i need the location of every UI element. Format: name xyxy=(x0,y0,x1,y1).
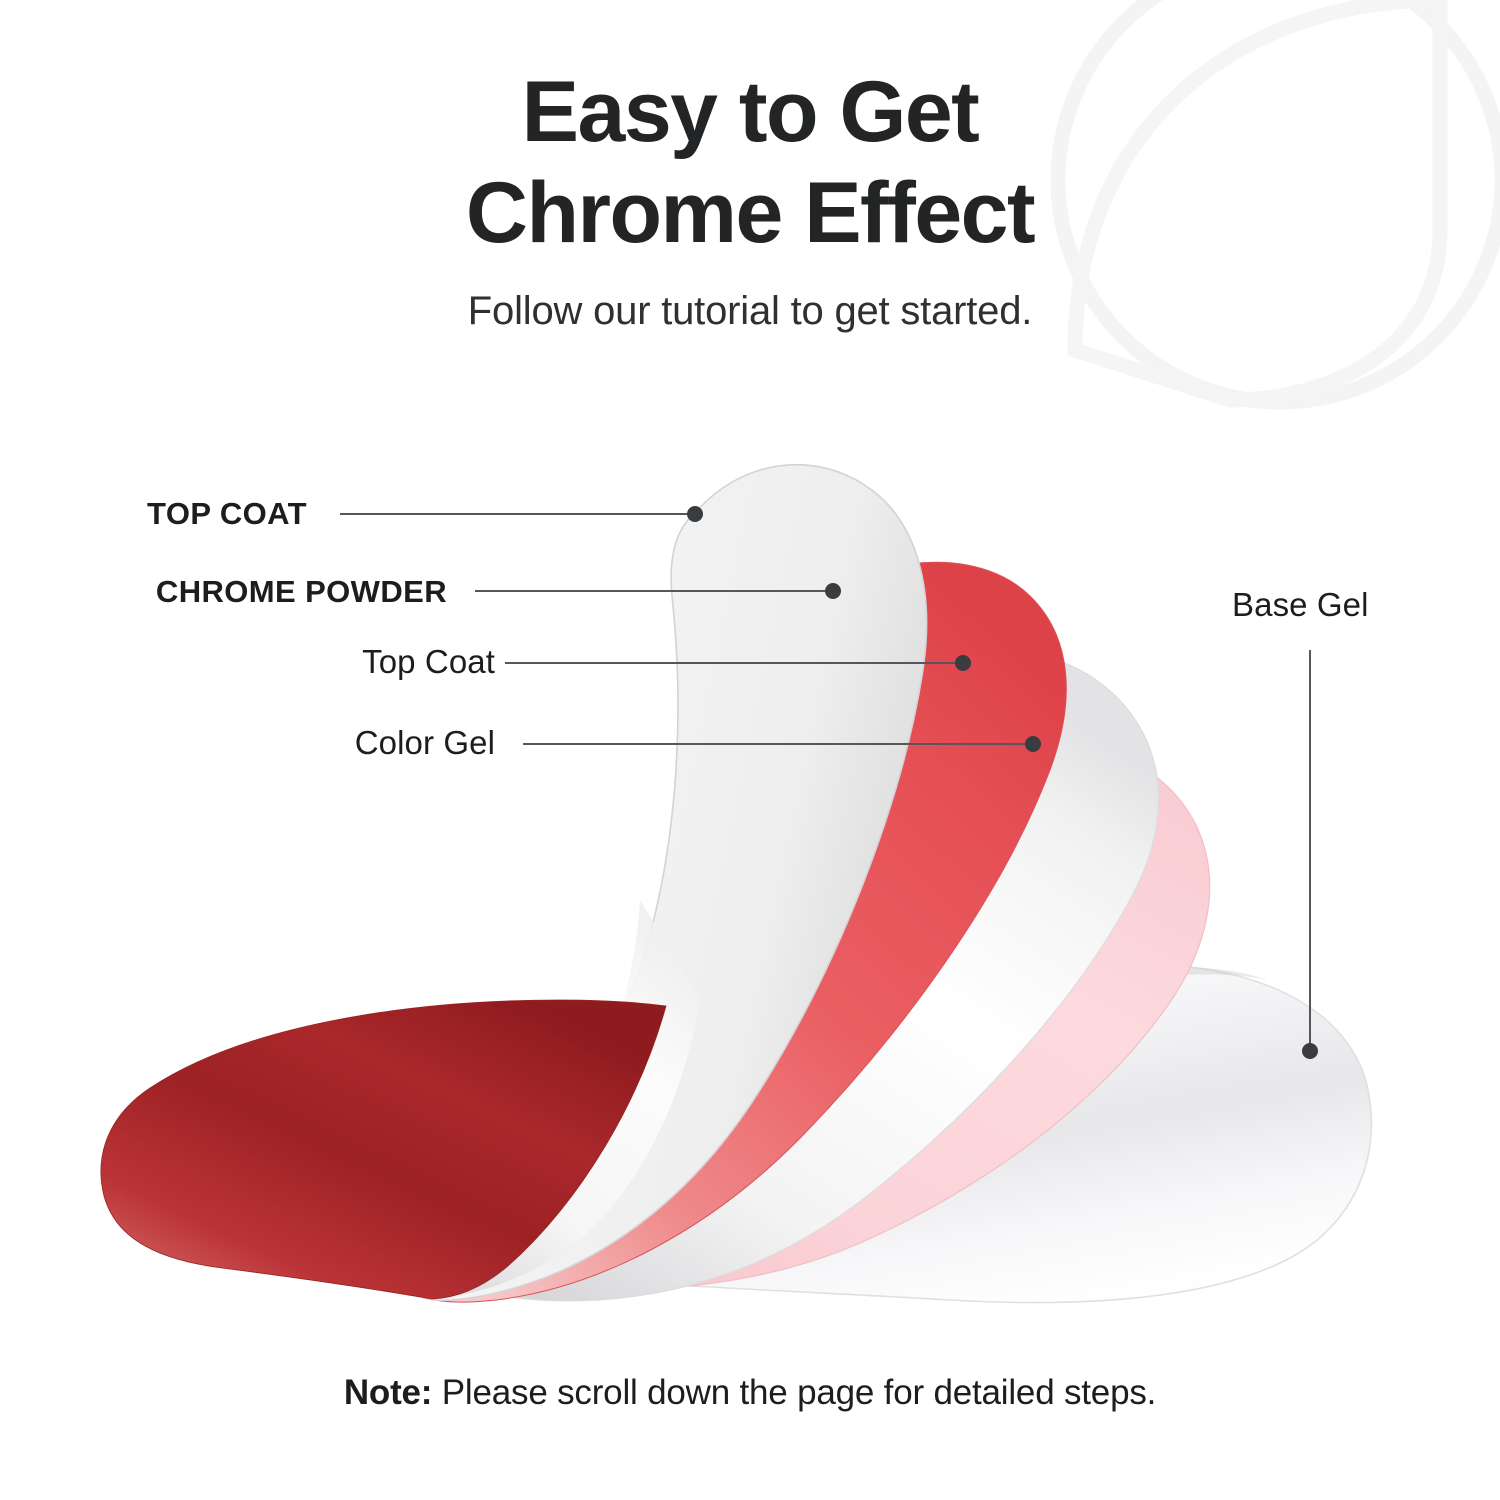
leader-dots xyxy=(687,506,1318,1059)
header: Easy to Get Chrome Effect Follow our tut… xyxy=(0,62,1500,334)
leader-dot-base-gel xyxy=(1302,1043,1318,1059)
footer-note-text: Please scroll down the page for detailed… xyxy=(432,1373,1156,1412)
leader-dot-top-coat-2 xyxy=(955,655,971,671)
diagram-label-top-coat: TOP COAT xyxy=(147,498,307,529)
diagram-label-chrome-powder: CHROME POWDER xyxy=(156,576,447,607)
layer-inner-top-coat xyxy=(450,651,1159,1301)
footer-note-label: Note: xyxy=(344,1373,432,1412)
leader-lines xyxy=(340,514,1310,1049)
diagram-label-top-coat-inner: Top Coat xyxy=(362,645,495,678)
page-title-line-1: Easy to Get xyxy=(0,62,1500,163)
leader-dot-chrome-powder xyxy=(825,583,841,599)
layer-outer-top-coat xyxy=(424,465,927,1300)
layer-base-gel xyxy=(500,964,1371,1303)
leader-dot-color-gel xyxy=(1025,736,1041,752)
footer-note: Note: Please scroll down the page for de… xyxy=(0,1373,1500,1413)
layer-color-gel xyxy=(418,741,1210,1290)
leader-dot-top-coat xyxy=(687,506,703,522)
diagram-label-color-gel: Color Gel xyxy=(355,726,495,759)
layer-chrome-powder xyxy=(424,562,1066,1302)
layer-chrome-nail xyxy=(101,1000,666,1299)
diagram-label-base-gel: Base Gel xyxy=(1232,588,1369,621)
page-title-line-2: Chrome Effect xyxy=(0,163,1500,264)
chrome-effect-infographic: Easy to Get Chrome Effect Follow our tut… xyxy=(0,0,1500,1500)
page-subtitle: Follow our tutorial to get started. xyxy=(0,289,1500,334)
